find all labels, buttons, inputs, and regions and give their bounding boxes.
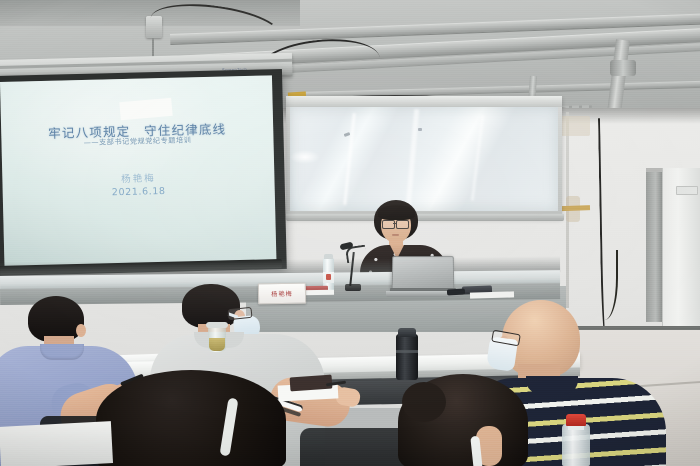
pipe-joint-clamp	[610, 60, 636, 76]
microphone-base	[345, 284, 361, 291]
presenter-glasses-right	[396, 220, 409, 229]
water-bottle-podium-cap	[324, 254, 333, 259]
attendee-right-front	[398, 374, 528, 466]
presenter-fringe	[378, 205, 415, 220]
whiteboard	[290, 107, 558, 211]
attendee-foreground-hair	[96, 370, 286, 466]
thermos-ring	[396, 350, 418, 353]
laptop-screen[interactable]	[392, 256, 454, 292]
attendee-right-front-hair-bun	[402, 382, 446, 422]
desk-foreground	[0, 421, 113, 466]
wall-patch-upper	[560, 116, 590, 136]
whiteboard-reflection-1	[343, 113, 356, 205]
whiteboard-glare	[290, 150, 320, 164]
cabinet-handle[interactable]	[676, 186, 698, 195]
papers-on-podium	[470, 291, 514, 298]
presenter-glasses-bridge	[393, 223, 396, 224]
attendee-right-collar	[526, 376, 578, 394]
dark-device-2	[447, 289, 465, 296]
attendee-left-ear	[76, 324, 86, 337]
presenter-glasses-left	[382, 220, 395, 229]
presenter-mouth	[392, 234, 399, 236]
water-bottle-red-cap	[562, 424, 590, 466]
attendee-left-collar	[40, 344, 84, 360]
attendee-foreground	[96, 370, 286, 466]
whiteboard-mark-2	[418, 128, 422, 131]
whiteboard-top-rail	[286, 96, 562, 107]
thermos-cap	[398, 328, 416, 337]
tea-liquid	[209, 338, 225, 351]
whiteboard-reflection-3	[471, 115, 484, 201]
classroom-photo: ScreenTech 牢记八项规定 守住纪律底线 ——支部书记党规党纪专题培训 …	[0, 0, 700, 466]
water-bottle-red-cap-lid	[566, 414, 586, 426]
tea-cup-lid	[206, 322, 228, 328]
whiteboard-reflection-2	[406, 109, 420, 207]
water-bottle-logo	[326, 274, 331, 280]
